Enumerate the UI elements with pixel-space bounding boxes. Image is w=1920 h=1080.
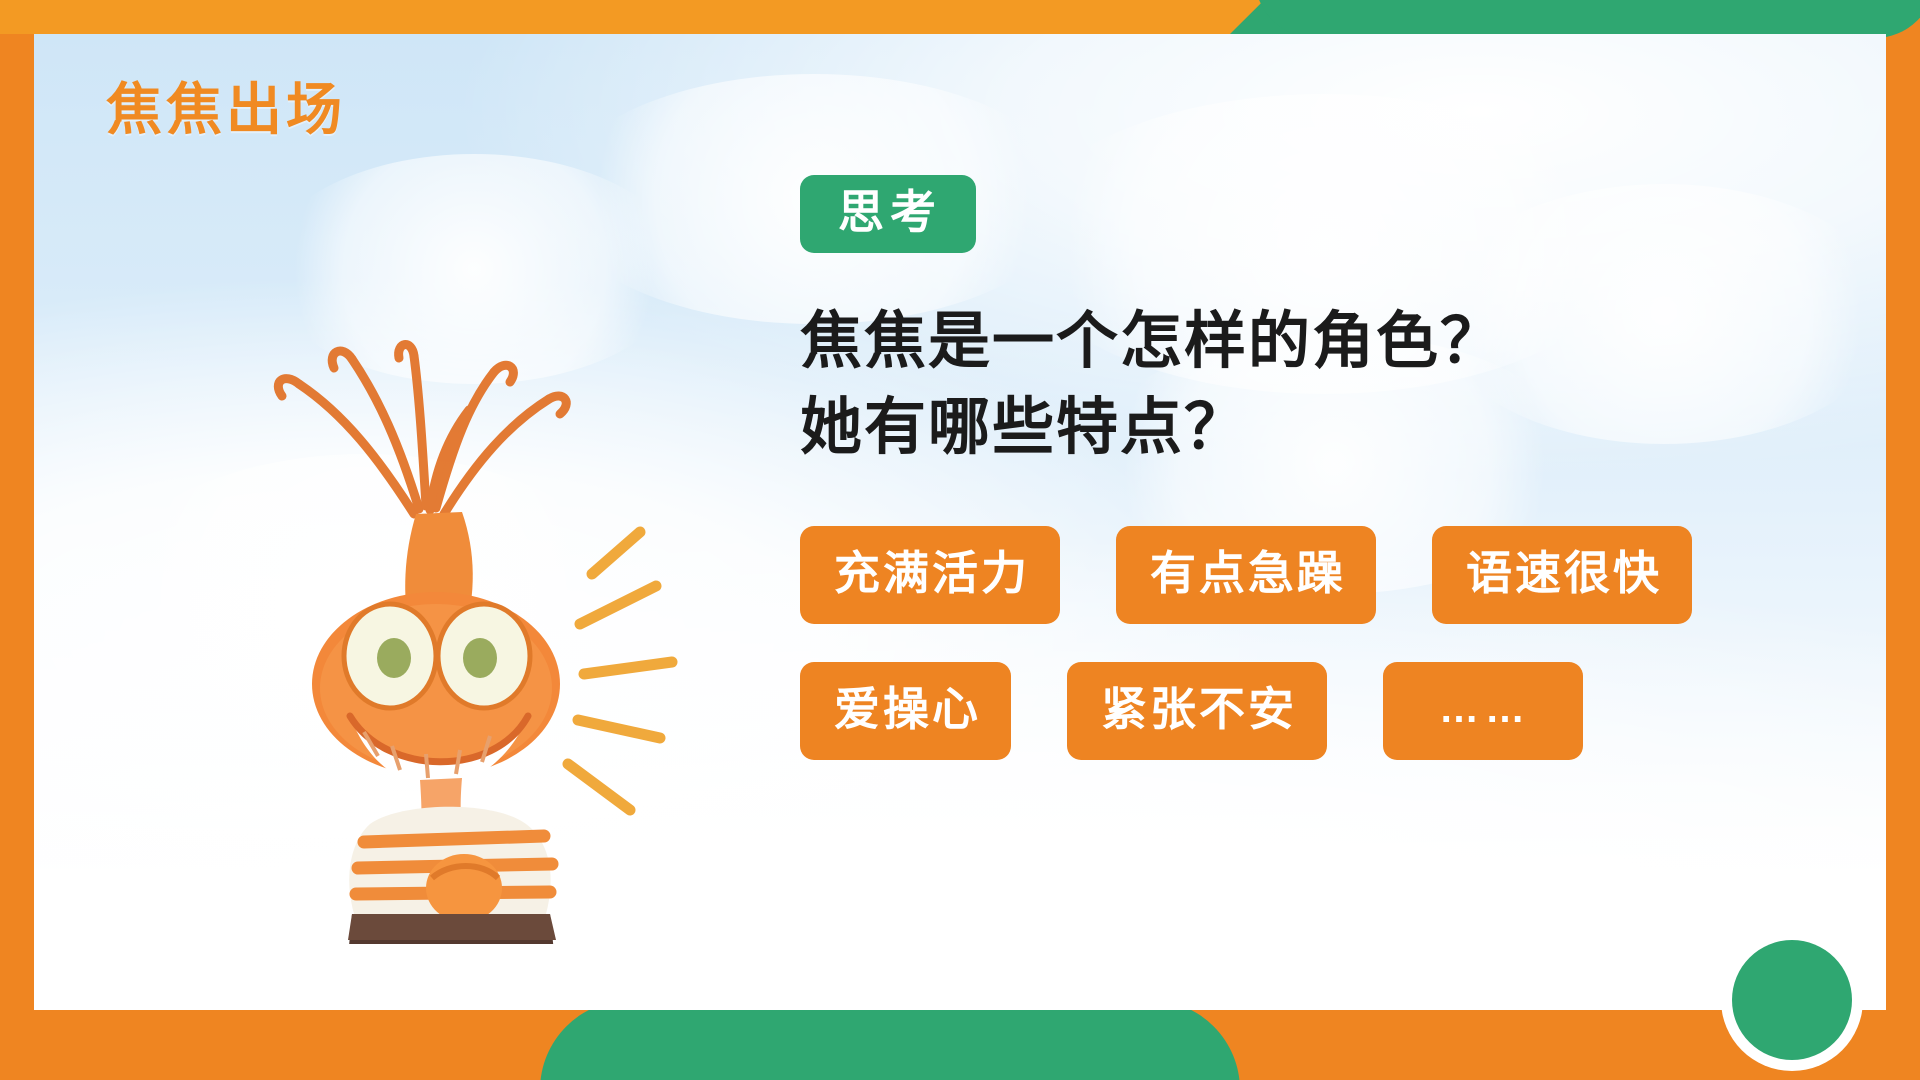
top-orange-band (0, 0, 1330, 34)
trait-tag-fast-speech[interactable]: 语速很快 (1432, 526, 1692, 624)
bottom-right-green-dot (1732, 940, 1852, 1060)
question-line-1: 焦焦是一个怎样的角色？ (800, 299, 1820, 385)
carrot-character-illustration (164, 264, 684, 944)
trait-tag-anxious[interactable]: 紧张不安 (1067, 662, 1327, 760)
trait-tag-impatient[interactable]: 有点急躁 (1116, 526, 1376, 624)
question-block: 焦焦是一个怎样的角色？ 她有哪些特点？ (800, 299, 1820, 470)
trait-tag-energetic[interactable]: 充满活力 (800, 526, 1060, 624)
trait-tag-worrier[interactable]: 爱操心 (800, 662, 1011, 760)
think-badge: 思考 (800, 175, 976, 253)
top-green-band (1255, 0, 1920, 38)
trait-tag-ellipsis[interactable]: …… (1383, 662, 1583, 760)
trait-tag-row-2: 爱操心 紧张不安 …… (800, 662, 1820, 760)
question-line-2: 她有哪些特点？ (800, 385, 1820, 471)
trait-tag-row-1: 充满活力 有点急躁 语速很快 (800, 526, 1820, 624)
trait-tag-list: 充满活力 有点急躁 语速很快 爱操心 紧张不安 …… (800, 526, 1820, 760)
right-content-panel: 思考 焦焦是一个怎样的角色？ 她有哪些特点？ 充满活力 有点急躁 语速很快 爱操… (800, 175, 1820, 798)
slide-root: 焦焦出场 (0, 0, 1920, 1080)
slide-title: 焦焦出场 (106, 76, 346, 143)
bottom-green-band (540, 1000, 1240, 1080)
